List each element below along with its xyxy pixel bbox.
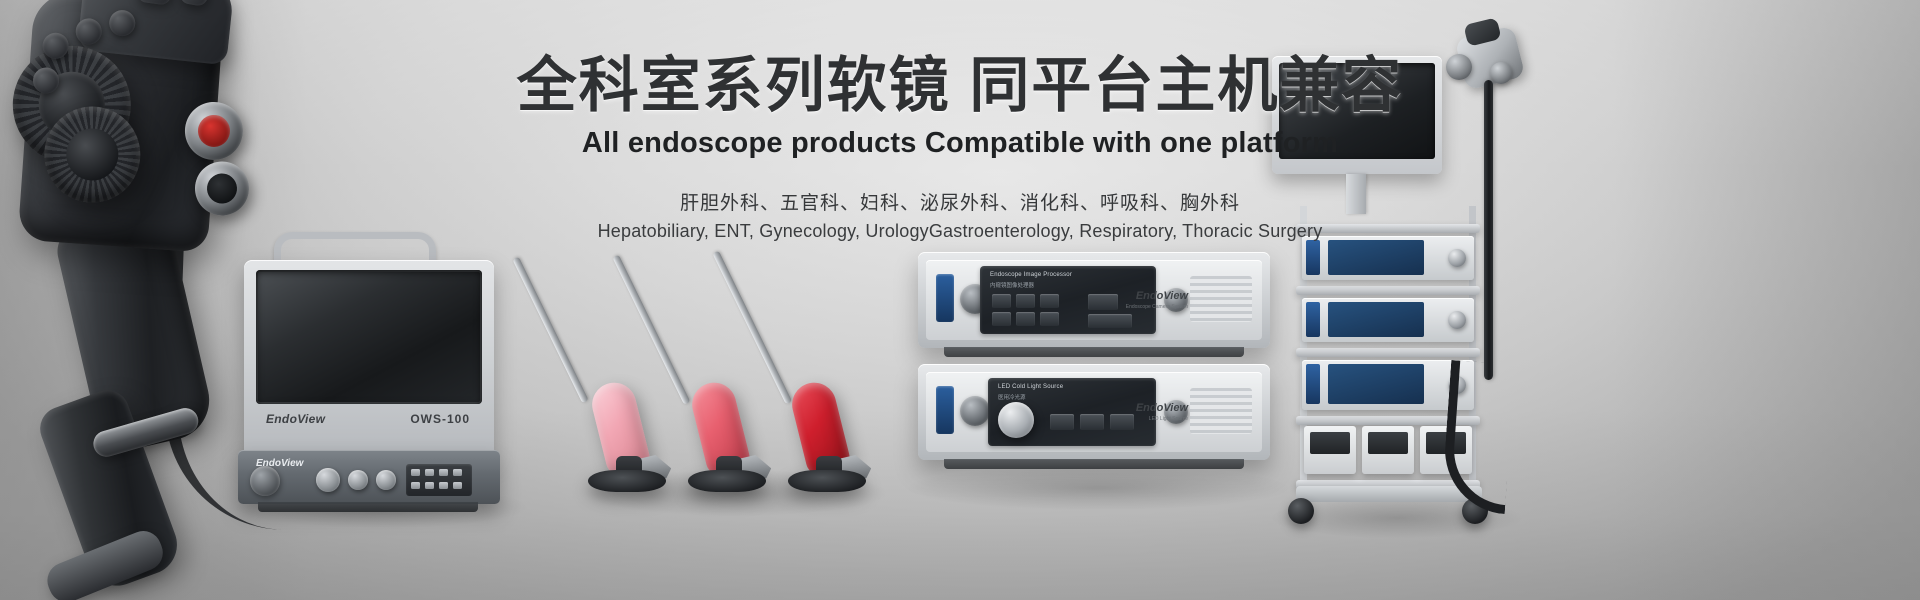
camera-processor-button-6 bbox=[1040, 312, 1059, 326]
cart-unit-1-panel bbox=[1328, 240, 1424, 275]
camera-processor-button-7 bbox=[1088, 294, 1118, 310]
light-source-face: LED Cold Light Source 医用冷光源 EndoView LED… bbox=[926, 372, 1262, 452]
camera-processor-button-1 bbox=[992, 294, 1011, 308]
camera-processor-button-3 bbox=[1040, 294, 1059, 308]
light-source-button-standard bbox=[1050, 414, 1074, 430]
camera-processor-face: Endoscope Image Processor 内窥镜图像处理器 EndoV… bbox=[926, 260, 1262, 340]
light-source-button-auto bbox=[1110, 414, 1134, 430]
instrument-stand bbox=[788, 470, 866, 492]
product-processor-stack: Endoscope Image Processor 内窥镜图像处理器 EndoV… bbox=[918, 252, 1270, 480]
cart-wheel-left bbox=[1288, 498, 1314, 524]
cart-unit-1-accent bbox=[1306, 240, 1320, 275]
workstation-keypad bbox=[406, 464, 472, 496]
banner-headline-chinese: 全科室系列软镜 同平台主机兼容 bbox=[0, 52, 1920, 119]
banner-departments-english: Hepatobiliary, ENT, Gynecology, UrologyG… bbox=[0, 221, 1920, 242]
cart-unit-3-accent bbox=[1306, 364, 1320, 404]
camera-processor-button-8 bbox=[1088, 314, 1132, 328]
light-source-feet bbox=[944, 459, 1244, 469]
cart-unit-2-panel bbox=[1328, 302, 1424, 337]
camera-processor-button-5 bbox=[1016, 312, 1035, 326]
light-source-panel-subtitle: 医用冷光源 bbox=[998, 393, 1026, 401]
light-source-brand-label: EndoView bbox=[1136, 402, 1188, 414]
banner-text-block: 全科室系列软镜 同平台主机兼容 All endoscope products C… bbox=[0, 52, 1920, 242]
instrument-shaft bbox=[612, 254, 690, 404]
light-source-connector bbox=[960, 396, 990, 426]
light-source-brightness-knob bbox=[998, 402, 1034, 438]
light-source-button-enhanced bbox=[1080, 414, 1104, 430]
light-source-vents bbox=[1190, 388, 1252, 434]
camera-processor-panel-subtitle: 内窥镜图像处理器 bbox=[990, 281, 1034, 289]
camera-processor-accent-bar bbox=[936, 274, 954, 322]
light-source-panel-title: LED Cold Light Source bbox=[998, 384, 1063, 390]
banner-headline-english: All endoscope products Compatible with o… bbox=[0, 127, 1920, 160]
cart-unit-3-panel bbox=[1328, 364, 1424, 404]
camera-processor-brand-sub: Endoscope Camera System bbox=[1126, 304, 1188, 310]
marketing-banner: EndoView OWS-100 EndoView bbox=[0, 0, 1920, 600]
cart-accessory-box-1 bbox=[1304, 426, 1356, 474]
cart-unit-2-accent bbox=[1306, 302, 1320, 337]
scope-distal-curve bbox=[1441, 360, 1515, 514]
camera-processor-brand-label: EndoView bbox=[1136, 290, 1188, 302]
camera-processor-panel-title: Endoscope Image Processor bbox=[990, 272, 1072, 278]
light-source-panel: LED Cold Light Source 医用冷光源 bbox=[988, 378, 1156, 446]
workstation-model-label: OWS-100 bbox=[410, 412, 470, 426]
camera-processor-button-2 bbox=[1016, 294, 1035, 308]
camera-processor-vents bbox=[1190, 276, 1252, 322]
camera-processor-feet bbox=[944, 347, 1244, 357]
camera-processor-unit: Endoscope Image Processor 内窥镜图像处理器 EndoV… bbox=[918, 252, 1270, 348]
camera-processor-button-4 bbox=[992, 312, 1011, 326]
light-source-brand-sub: LED Light Source bbox=[1149, 416, 1188, 422]
banner-departments-chinese: 肝胆外科、五官科、妇科、泌尿外科、消化科、呼吸科、胸外科 bbox=[0, 188, 1920, 215]
light-source-accent-bar bbox=[936, 386, 954, 434]
light-source-unit: LED Cold Light Source 医用冷光源 EndoView LED… bbox=[918, 364, 1270, 460]
instrument-shaft bbox=[712, 250, 792, 404]
cart-accessory-box-2 bbox=[1362, 426, 1414, 474]
instrument-shaft bbox=[512, 256, 588, 403]
camera-processor-panel: Endoscope Image Processor 内窥镜图像处理器 bbox=[980, 266, 1156, 334]
product-instrument-red bbox=[712, 252, 872, 494]
